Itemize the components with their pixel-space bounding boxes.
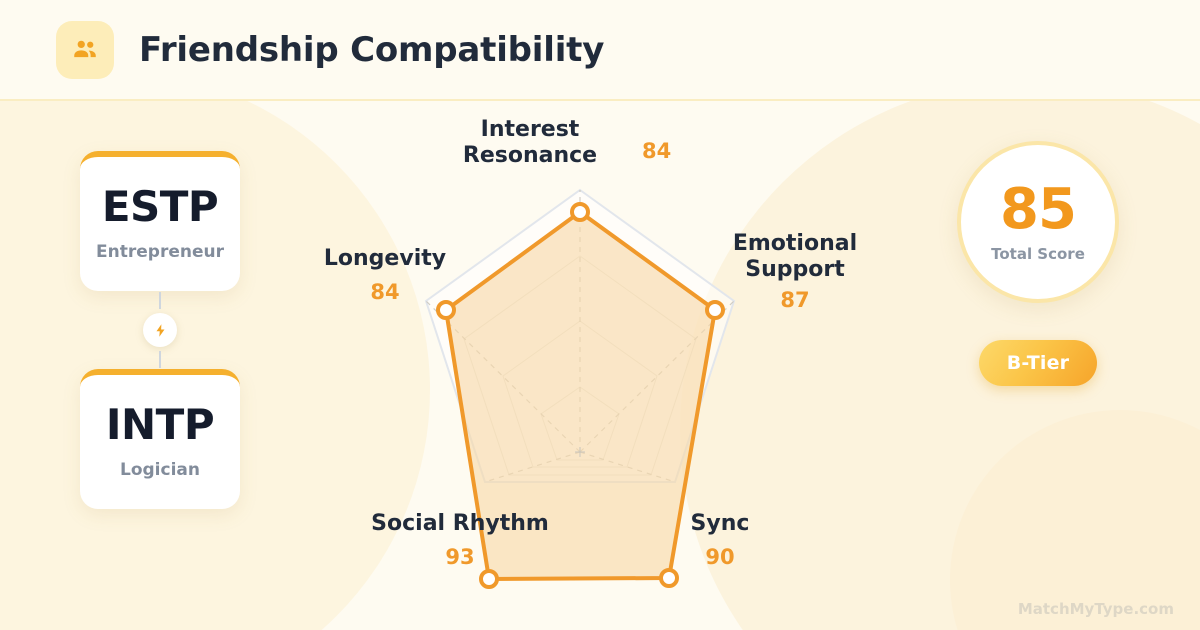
- type-card-first[interactable]: ESTP Entrepreneur: [80, 151, 240, 291]
- score-panel: 85 Total Score B-Tier: [952, 141, 1124, 386]
- lightning-bolt-icon: [143, 313, 177, 347]
- type-connector: [80, 291, 240, 369]
- axis-label-line1: Emotional: [733, 231, 857, 256]
- axis-label-line2: Support: [745, 257, 844, 282]
- axis-label-line1: Interest: [481, 117, 580, 142]
- connector-line-top: [159, 292, 161, 309]
- radar-axis-label-emotional-support: Emotional Support 87: [705, 231, 885, 313]
- radar-axis-label-sync: Sync 90: [655, 511, 785, 570]
- type-name-first: Entrepreneur: [96, 242, 224, 262]
- radar-axis-value-interest-resonance: 84: [642, 139, 671, 163]
- radar-axis-label-interest-resonance: Interest Resonance: [420, 117, 640, 169]
- axis-label-line1: Sync: [691, 511, 750, 536]
- radar-axis-value-sync: 90: [655, 545, 785, 570]
- page-title: Friendship Compatibility: [139, 30, 604, 70]
- connector-line-bottom: [159, 351, 161, 368]
- tier-badge: B-Tier: [979, 340, 1097, 386]
- axis-label-line1: Longevity: [324, 246, 446, 271]
- radar-chart: Interest Resonance 84 Emotional Support …: [300, 101, 880, 630]
- type-name-second: Logician: [120, 460, 200, 480]
- type-code-second: INTP: [106, 404, 214, 446]
- main-stage: ESTP Entrepreneur INTP Logician: [0, 101, 1200, 630]
- radar-axis-value-social-rhythm: 93: [345, 545, 575, 570]
- page-header: Friendship Compatibility: [0, 0, 1200, 101]
- site-watermark: MatchMyType.com: [1018, 600, 1174, 618]
- radar-axis-value-emotional-support: 87: [705, 288, 885, 313]
- total-score-label: Total Score: [991, 245, 1085, 263]
- type-code-first: ESTP: [102, 186, 218, 228]
- radar-axis-label-longevity: Longevity 84: [290, 246, 480, 305]
- type-pair: ESTP Entrepreneur INTP Logician: [80, 151, 240, 509]
- radar-axis-label-social-rhythm: Social Rhythm 93: [345, 511, 575, 570]
- radar-axis-value-longevity: 84: [290, 280, 480, 305]
- axis-label-line2: Resonance: [463, 143, 597, 168]
- people-group-icon: [56, 21, 114, 79]
- total-score-circle: 85 Total Score: [957, 141, 1119, 303]
- total-score-value: 85: [1000, 182, 1076, 238]
- axis-label-line1: Social Rhythm: [371, 511, 549, 536]
- type-card-second[interactable]: INTP Logician: [80, 369, 240, 509]
